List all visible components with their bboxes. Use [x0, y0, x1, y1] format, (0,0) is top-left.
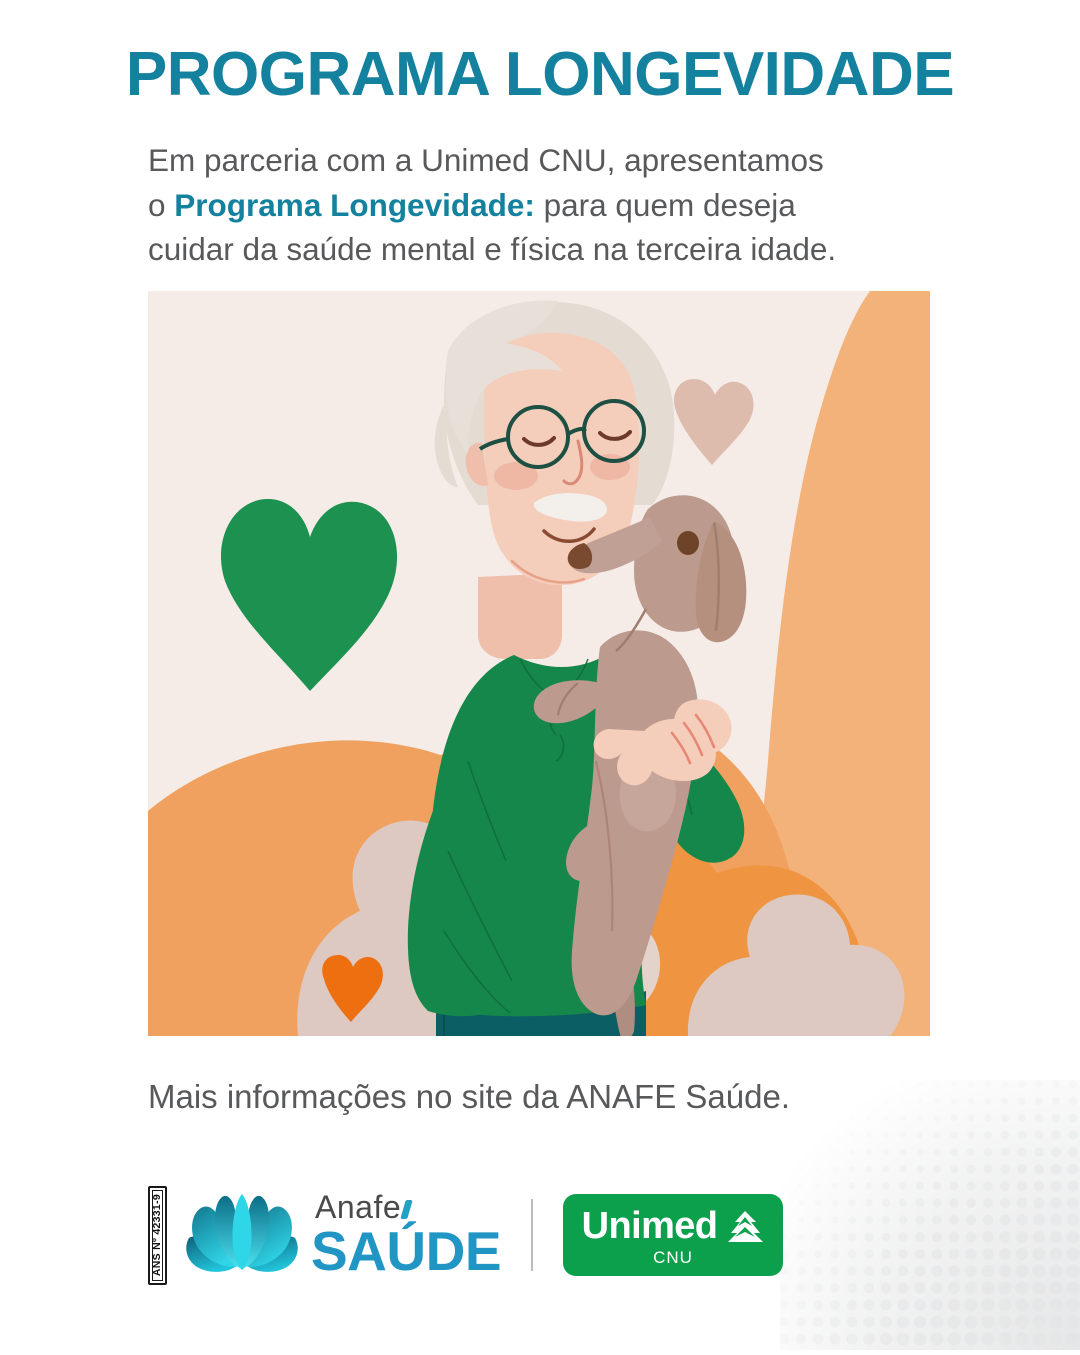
subhead-line-2-pre: o [148, 187, 174, 223]
anafe-word-anafe: Anafe [315, 1191, 501, 1223]
subheadline: Em parceria com a Unimed CNU, apresentam… [148, 138, 948, 272]
unimed-wordmark: Unimed [582, 1207, 718, 1245]
halftone-dot-pattern [780, 1080, 1080, 1350]
unimed-sublabel: CNU [653, 1248, 693, 1268]
subhead-line-3: cuidar da saúde mental e física na terce… [148, 231, 836, 267]
ans-registration-badge: ANS Nº 42331-9 [148, 1186, 167, 1285]
anafe-lotus-icon [181, 1192, 303, 1278]
subhead-line-2-post: para quem deseja [535, 187, 796, 223]
anafe-word-text: Anafe [315, 1189, 401, 1225]
unimed-logo-main: Unimed [582, 1207, 765, 1245]
logo-row: ANS Nº 42331-9 [148, 1183, 783, 1287]
man-neck [478, 573, 562, 659]
footer-note: Mais informações no site da ANAFE Saúde. [148, 1078, 968, 1116]
logo-divider [531, 1199, 533, 1271]
unimed-logo: Unimed CNU [563, 1194, 783, 1276]
page-title: PROGRAMA LONGEVIDADE [0, 44, 1080, 106]
dog-eye [677, 531, 699, 555]
illustration-elderly-man-with-dog [148, 291, 930, 1036]
subhead-program-name: Programa Longevidade: [174, 187, 535, 223]
anafe-word-saude: SAÚDE [311, 1224, 501, 1279]
anafe-wordmark: Anafe SAÚDE [311, 1191, 501, 1279]
unimed-symbol-icon [726, 1210, 764, 1242]
ans-badge-text: ANS Nº 42331-9 [152, 1194, 163, 1276]
subhead-line-1: Em parceria com a Unimed CNU, apresentam… [148, 142, 824, 178]
